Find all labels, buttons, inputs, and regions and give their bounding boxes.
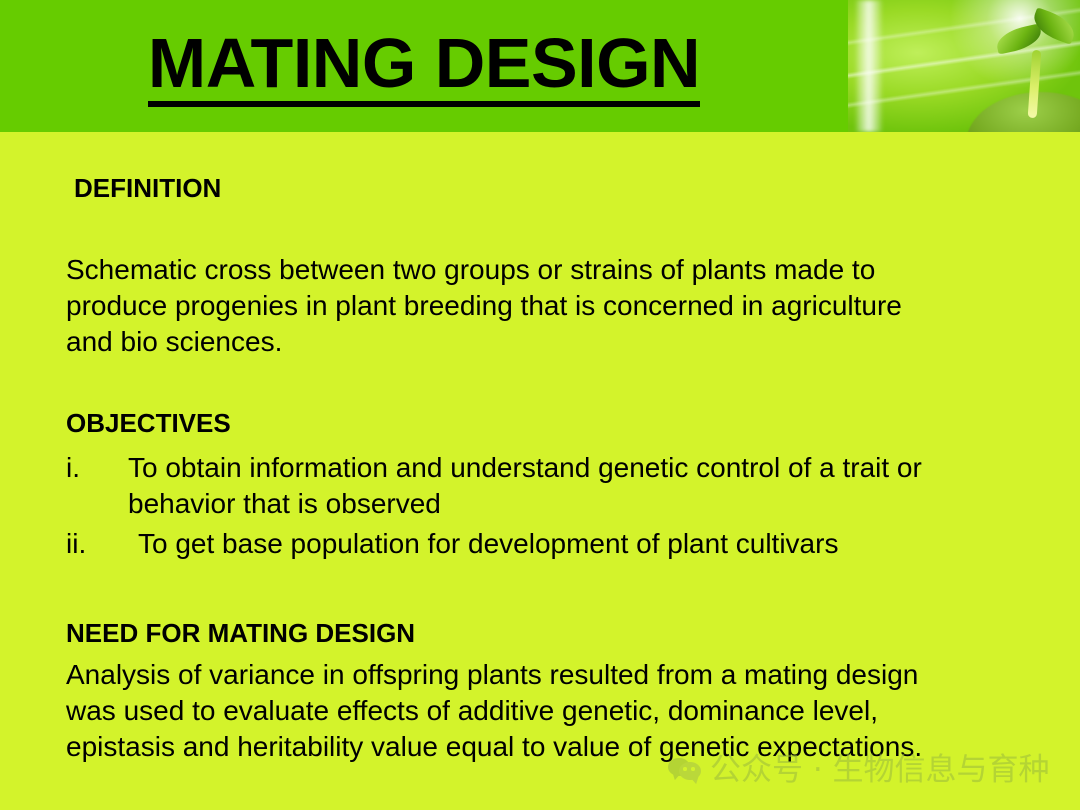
objectives-list: i. To obtain information and understand … (66, 450, 1026, 562)
list-item: i. To obtain information and understand … (66, 450, 1026, 522)
need-line: Analysis of variance in offspring plants… (66, 657, 922, 693)
definition-line: and bio sciences. (66, 324, 902, 360)
seedling-photo (848, 0, 1080, 132)
definition-heading: DEFINITION (74, 174, 221, 203)
need-paragraph: Analysis of variance in offspring plants… (66, 657, 922, 765)
list-item-line: To obtain information and understand gen… (128, 450, 922, 486)
need-line: epistasis and heritability value equal t… (66, 729, 922, 765)
list-item-line: behavior that is observed (128, 486, 922, 522)
list-item-text: To get base population for development o… (128, 526, 838, 562)
list-item-marker: ii. (66, 526, 128, 562)
page-title-text: MATING DESIGN (148, 28, 700, 107)
slide: MATING DESIGN DEFINITION Schematic cross… (0, 0, 1080, 810)
list-item: ii. To get base population for developme… (66, 526, 1026, 562)
photo-light-streak (856, 0, 882, 132)
objectives-heading: OBJECTIVES (66, 409, 231, 438)
list-item-text: To obtain information and understand gen… (128, 450, 922, 522)
slide-body: DEFINITION Schematic cross between two g… (0, 132, 1080, 810)
list-item-line: To get base population for development o… (138, 526, 838, 562)
need-line: was used to evaluate effects of additive… (66, 693, 922, 729)
definition-line: Schematic cross between two groups or st… (66, 252, 902, 288)
definition-line: produce progenies in plant breeding that… (66, 288, 902, 324)
definition-paragraph: Schematic cross between two groups or st… (66, 252, 902, 360)
need-heading: NEED FOR MATING DESIGN (66, 619, 415, 648)
list-item-marker: i. (66, 450, 128, 486)
page-title: MATING DESIGN (0, 28, 848, 107)
